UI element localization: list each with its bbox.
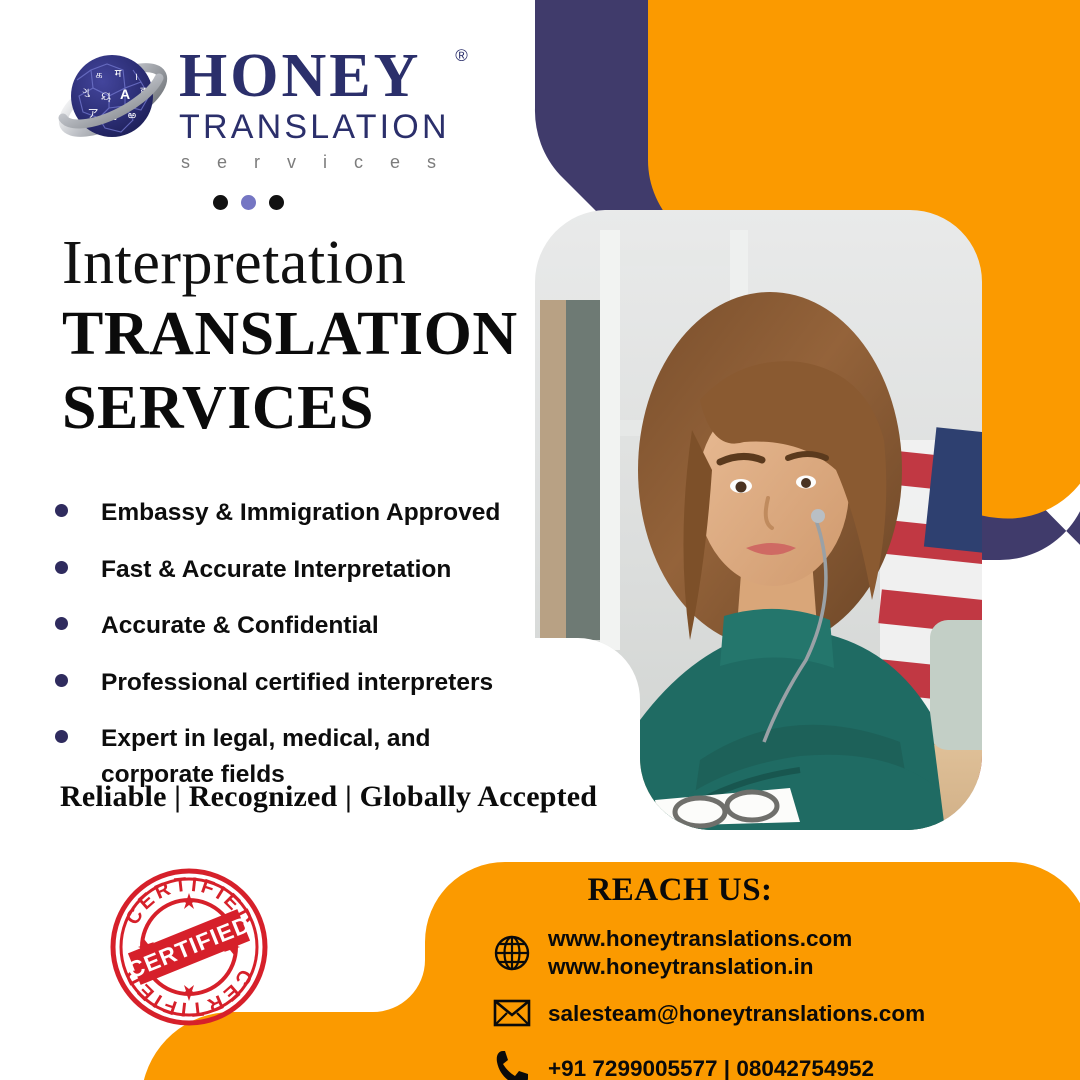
contact-row-website[interactable]: www.honeytranslations.com www.honeytrans… bbox=[420, 925, 980, 980]
headline-bold-line-1: TRANSLATION bbox=[62, 302, 532, 368]
svg-text:க: க bbox=[95, 69, 102, 81]
phone-icon bbox=[490, 1046, 534, 1080]
poster-canvas: க म । ગુ ୟ A ह ア ഒ ఱ HONEY ® TRANSLATION bbox=[0, 0, 1080, 1080]
bullet-dot-icon bbox=[55, 561, 68, 574]
list-item-label: Professional certified interpreters bbox=[101, 665, 493, 701]
contact-row-email[interactable]: salesteam@honeytranslations.com bbox=[420, 991, 980, 1035]
logo-subtitle: TRANSLATION bbox=[179, 109, 450, 146]
envelope-icon bbox=[490, 991, 534, 1035]
bullet-dot-icon bbox=[55, 504, 68, 517]
globe-languages-icon: க म । ગુ ୟ A ह ア ഒ ఱ bbox=[55, 44, 173, 154]
contact-website-lines[interactable]: www.honeytranslations.com www.honeytrans… bbox=[548, 925, 852, 980]
contact-phone[interactable]: +91 7299005577 | 08042754952 bbox=[548, 1055, 874, 1080]
bullet-dot-icon bbox=[55, 617, 68, 630]
website-primary[interactable]: www.honeytranslations.com bbox=[548, 926, 852, 951]
website-secondary[interactable]: www.honeytranslation.in bbox=[548, 953, 852, 981]
headline-bold-line-2: SERVICES bbox=[62, 376, 532, 442]
list-item-label: Fast & Accurate Interpretation bbox=[101, 552, 451, 588]
list-item-label: Embassy & Immigration Approved bbox=[101, 495, 500, 531]
bullet-dot-icon bbox=[55, 674, 68, 687]
logo-name: HONEY bbox=[179, 46, 450, 107]
svg-text:म: म bbox=[115, 68, 122, 80]
brand-logo[interactable]: க म । ગુ ୟ A ह ア ഒ ఱ HONEY ® TRANSLATION bbox=[55, 42, 475, 210]
orange-diagonal-shape bbox=[648, 0, 1080, 519]
purple-ribbon-shape bbox=[535, 0, 1080, 560]
hero-photo bbox=[530, 205, 1000, 840]
headline-script-line: Interpretation bbox=[62, 232, 532, 294]
list-item: Embassy & Immigration Approved bbox=[55, 495, 535, 531]
dot-2 bbox=[241, 195, 256, 210]
us-flag bbox=[878, 427, 998, 800]
logo-dots bbox=[213, 195, 475, 210]
tagline: Reliable | Recognized | Globally Accepte… bbox=[60, 780, 597, 814]
dot-3 bbox=[269, 195, 284, 210]
svg-text:A: A bbox=[120, 86, 130, 102]
registered-trademark-icon: ® bbox=[455, 46, 468, 66]
list-item-label: Accurate & Confidential bbox=[101, 608, 379, 644]
globe-icon bbox=[490, 931, 534, 975]
dot-1 bbox=[213, 195, 228, 210]
list-item: Fast & Accurate Interpretation bbox=[55, 552, 535, 588]
contact-block: REACH US: www.honeytranslations.com www.… bbox=[420, 872, 980, 1080]
contact-email[interactable]: salesteam@honeytranslations.com bbox=[548, 1000, 925, 1028]
logo-tertiary: s e r v i c e s bbox=[181, 152, 450, 173]
feature-list: Embassy & Immigration Approved Fast & Ac… bbox=[55, 495, 535, 813]
svg-text:।: । bbox=[134, 72, 138, 83]
contact-row-phone[interactable]: +91 7299005577 | 08042754952 bbox=[420, 1046, 980, 1080]
list-item: Accurate & Confidential bbox=[55, 608, 535, 644]
eyeglasses bbox=[675, 792, 777, 826]
contact-title: REACH US: bbox=[420, 872, 980, 909]
list-item: Professional certified interpreters bbox=[55, 665, 535, 701]
bullet-dot-icon bbox=[55, 730, 68, 743]
certified-stamp-icon: CERTIFIED CERTIFIED CERTIFIED bbox=[108, 866, 270, 1028]
svg-text:ગુ: ગુ bbox=[82, 87, 90, 98]
headline-block: Interpretation TRANSLATION SERVICES bbox=[62, 232, 532, 441]
svg-text:ୟ: ୟ bbox=[101, 89, 111, 103]
